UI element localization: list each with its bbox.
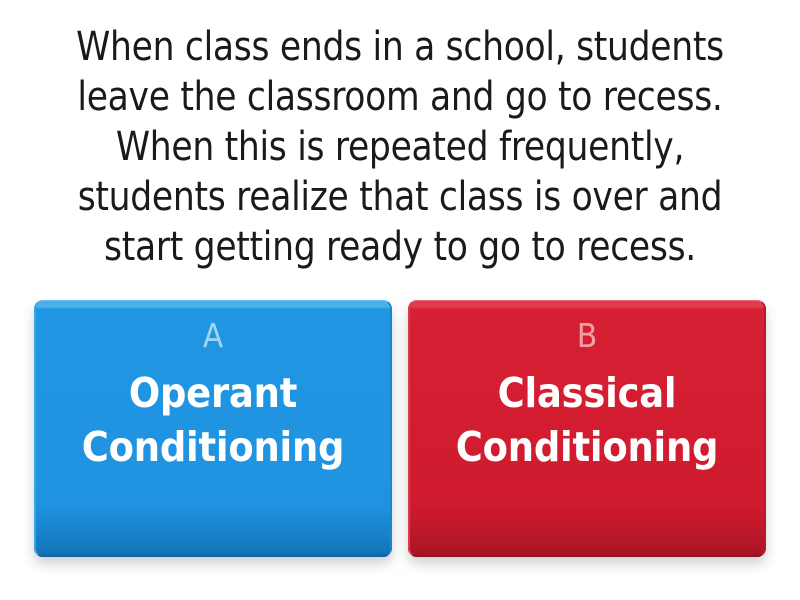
answer-options-list: A Operant Conditioning B Classical Condi…: [0, 300, 800, 562]
question-area: When class ends in a school, students le…: [0, 0, 800, 272]
answer-label-b: Classical Conditioning: [446, 366, 729, 474]
answer-option-a[interactable]: A Operant Conditioning: [34, 300, 392, 557]
answer-option-b[interactable]: B Classical Conditioning: [408, 300, 766, 557]
quiz-screen: When class ends in a school, students le…: [0, 0, 800, 600]
answer-letter-b: B: [577, 318, 597, 354]
question-text: When class ends in a school, students le…: [41, 22, 759, 272]
answer-letter-a: A: [203, 318, 223, 354]
answer-label-a: Operant Conditioning: [72, 366, 355, 474]
